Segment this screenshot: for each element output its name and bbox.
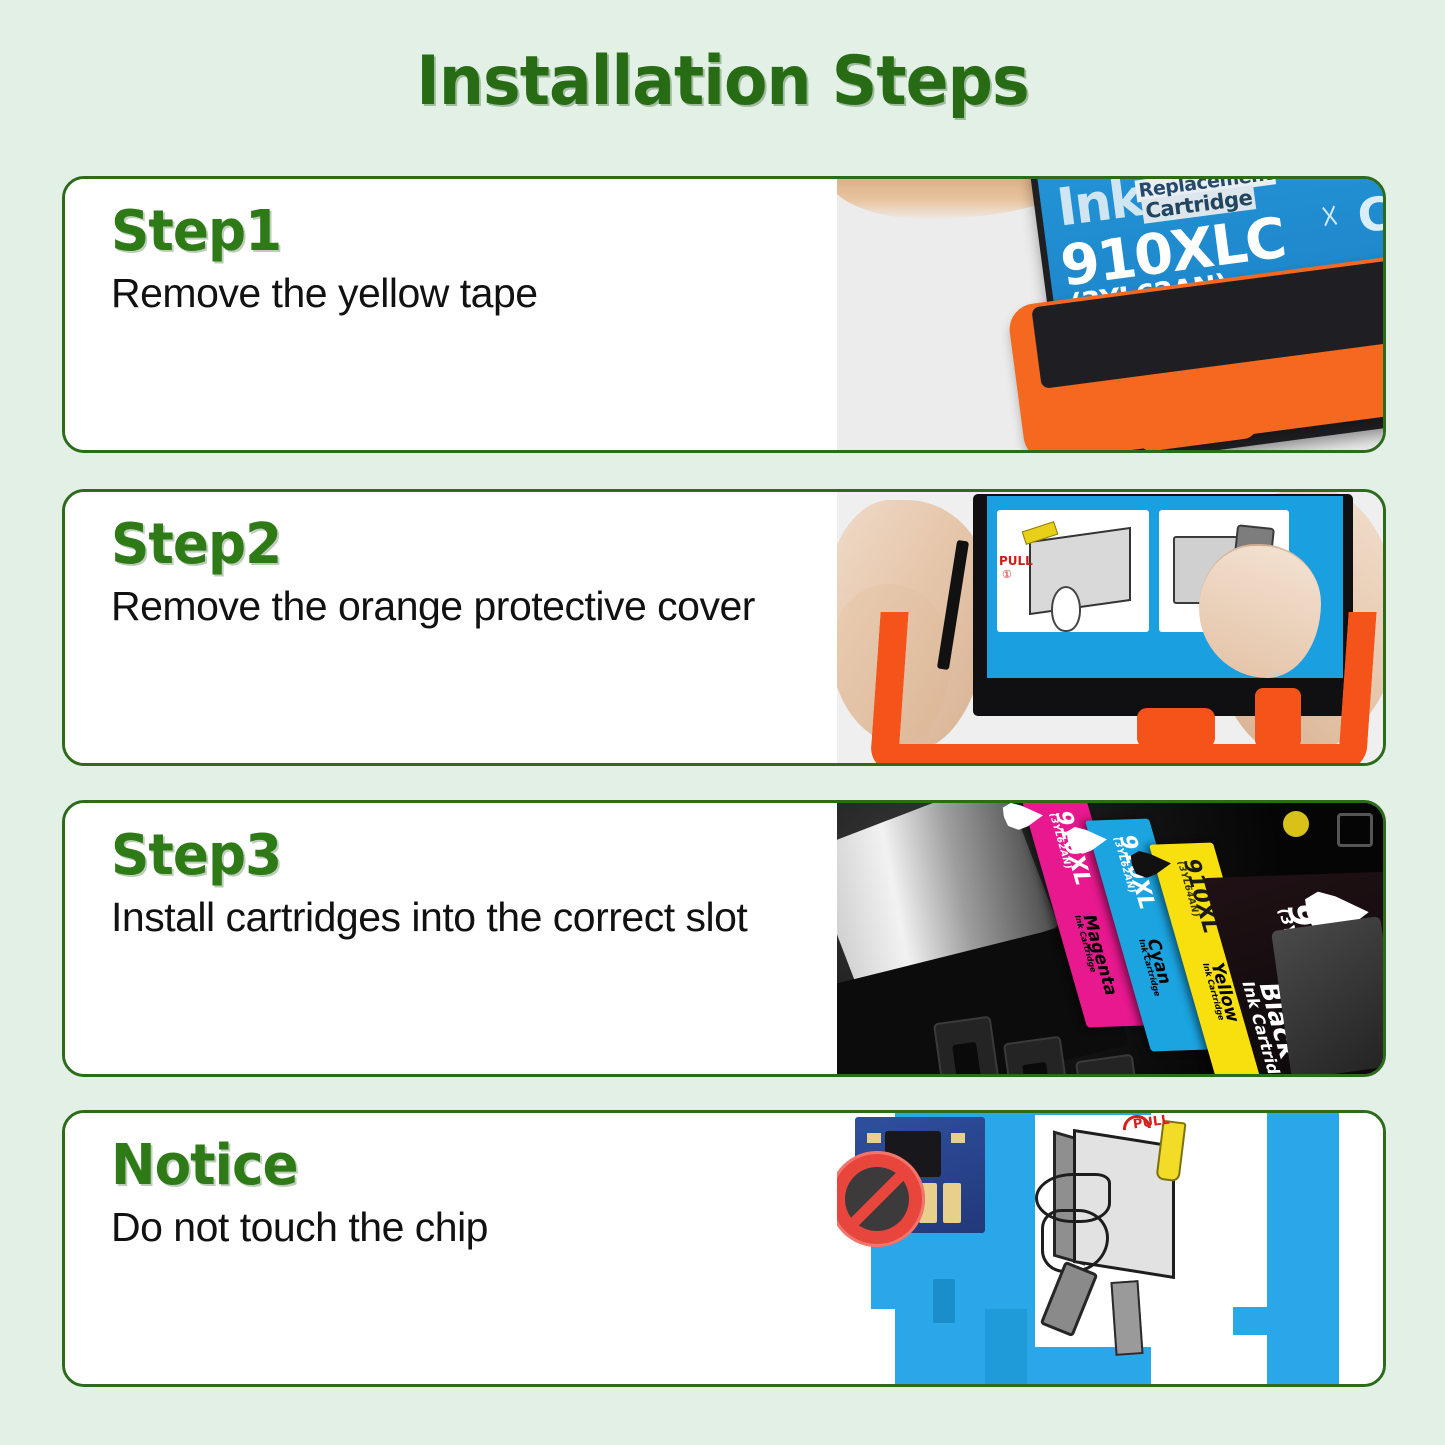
pull-label: PULL — [999, 554, 1033, 568]
step-1-photo: 910 XL 3YL62AN Cyan 3YL62AN Ink Replacem… — [837, 179, 1383, 450]
orange-cover-knob — [1137, 708, 1215, 748]
step-card-3: Step3 Install cartridges into the correc… — [62, 800, 1386, 1077]
notice-description: Do not touch the chip — [111, 1200, 801, 1255]
step-2-heading: Step2 — [111, 516, 801, 573]
step-2-text-block: Step2 Remove the orange protective cover — [65, 492, 837, 763]
step-1-heading: Step1 — [111, 203, 801, 260]
step-2-description: Remove the orange protective cover — [111, 579, 801, 634]
installation-steps-page: Installation Steps Step1 Remove the yell… — [0, 0, 1445, 1445]
ce-mark-icon: CE — [1354, 181, 1383, 244]
printer-right-module — [1271, 916, 1383, 1074]
step-1-text-block: Step1 Remove the yellow tape — [65, 179, 837, 450]
notice-photo: R RDC5 PULL — [837, 1113, 1383, 1384]
notice-card: Notice Do not touch the chip R RDC5 — [62, 1110, 1386, 1387]
step-card-2: Step2 Remove the orange protective cover… — [62, 489, 1386, 766]
chip-contact-pad-4 — [943, 1183, 961, 1223]
printer-icon — [1337, 813, 1373, 847]
page-title: Installation Steps — [51, 42, 1395, 121]
chip-pad-small-1 — [867, 1133, 881, 1143]
step-3-photo: 910 XL (3YL62AN) Magenta Ink Cartridge 9… — [837, 803, 1383, 1074]
drawing-clip-right — [1110, 1280, 1143, 1356]
printer-yellow-marker — [1283, 811, 1309, 837]
cartridge-foot — [985, 1309, 1027, 1384]
notice-heading: Notice — [111, 1137, 801, 1194]
step-3-text-block: Step3 Install cartridges into the correc… — [65, 803, 837, 1074]
cartridge-notch — [933, 1279, 955, 1323]
notice-text-block: Notice Do not touch the chip — [65, 1113, 837, 1384]
step-card-1: Step1 Remove the yellow tape 910 XL 3YL6… — [62, 176, 1386, 453]
step-3-heading: Step3 — [111, 827, 801, 884]
pull-step-number: ① — [1002, 568, 1012, 581]
orange-cover-knob-right — [1255, 688, 1301, 748]
chip-pad-small-2 — [951, 1133, 965, 1143]
weee-bin-icon: ☓ — [1318, 196, 1341, 238]
step-3-description: Install cartridges into the correct slot — [111, 890, 801, 945]
cartridge-right-edge — [1267, 1113, 1339, 1384]
step-1-description: Remove the yellow tape — [111, 266, 801, 321]
step-2-photo: PULL ① PUSH — [837, 492, 1383, 763]
